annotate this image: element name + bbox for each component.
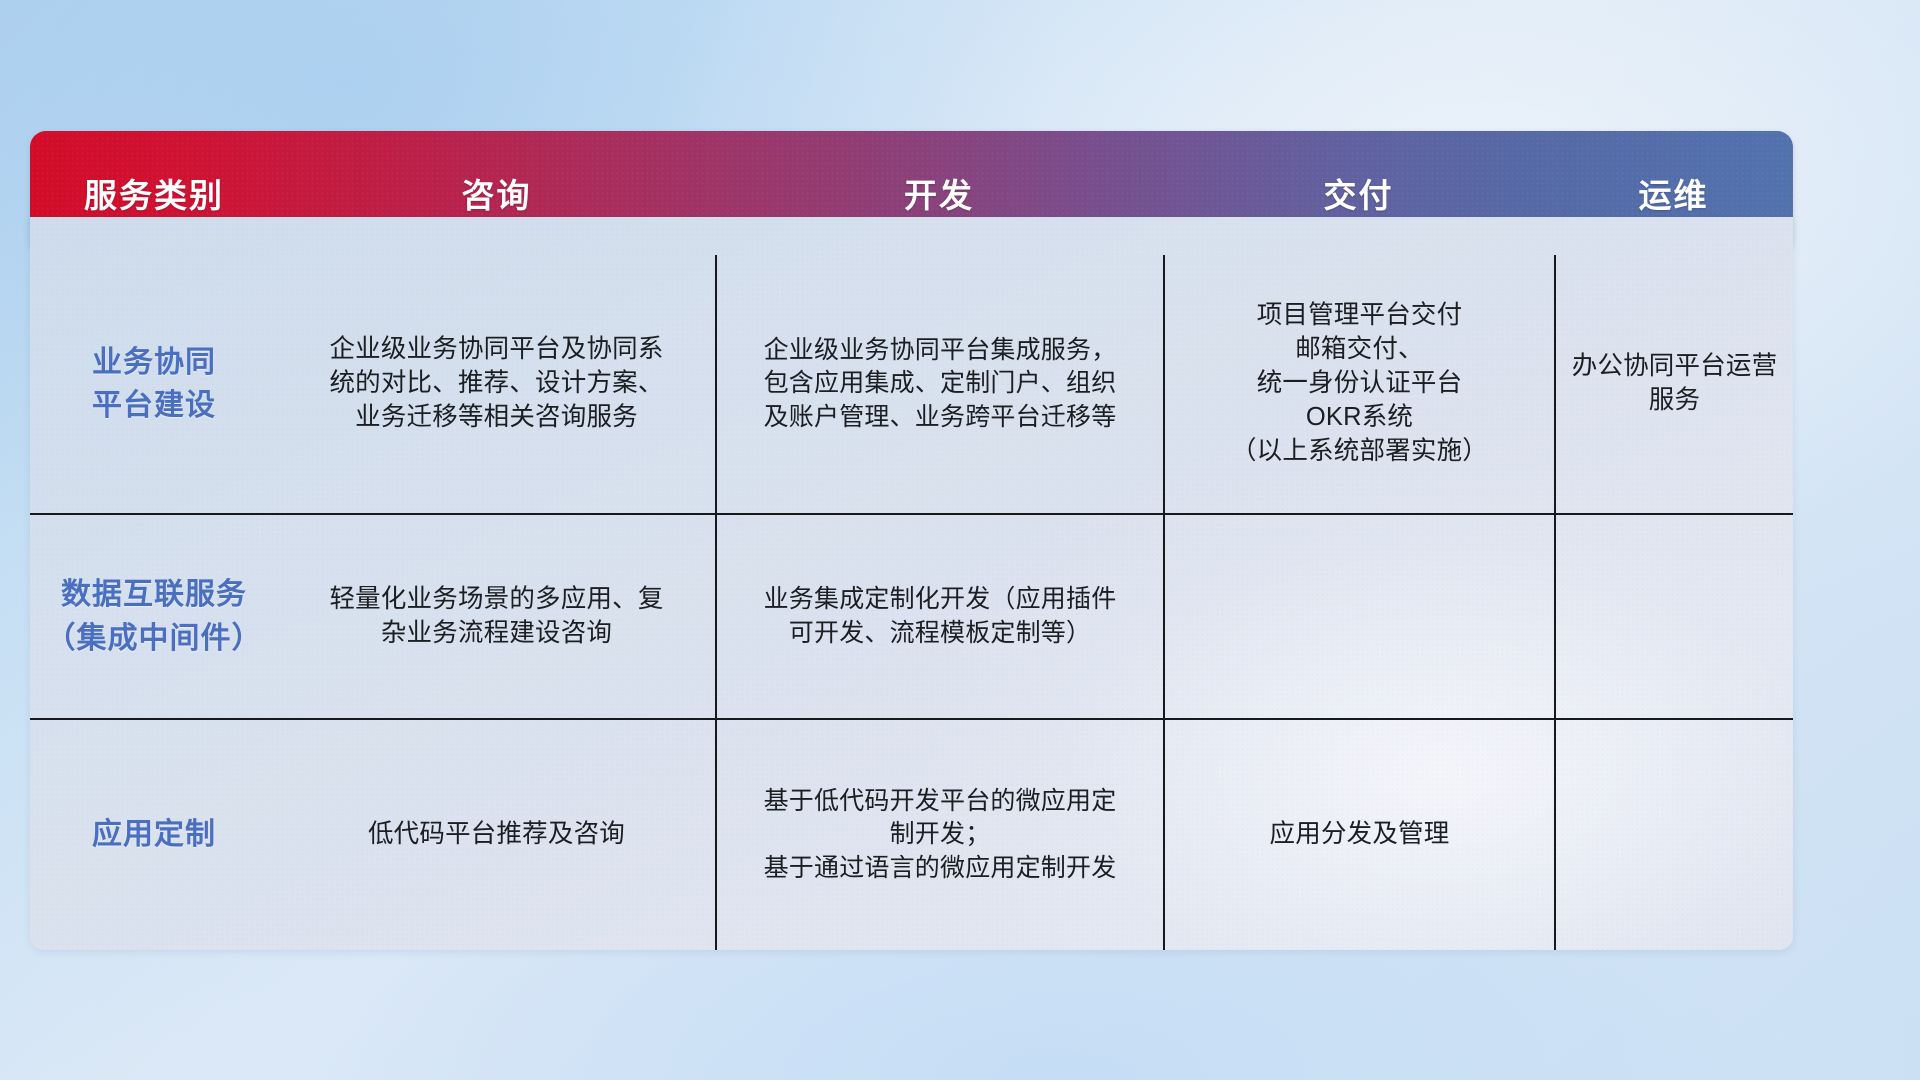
cell-delivery bbox=[1163, 515, 1554, 718]
column-header-development: 开发 bbox=[715, 169, 1163, 217]
service-matrix-table: 服务类别 咨询 开发 交付 运维 业务协同 平台建设 企业级业务协同平台及协同系… bbox=[30, 131, 1793, 950]
cell-development: 企业级业务协同平台集成服务， 包含应用集成、定制门户、组织 及账户管理、业务跨平… bbox=[715, 255, 1163, 513]
cell-development: 业务集成定制化开发（应用插件 可开发、流程模板定制等） bbox=[715, 515, 1163, 718]
cell-operations bbox=[1554, 720, 1793, 950]
cell-delivery: 项目管理平台交付 邮箱交付、 统一身份认证平台 OKR系统 （以上系统部署实施） bbox=[1163, 255, 1554, 513]
row-category-label: 数据互联服务 （集成中间件） bbox=[30, 515, 278, 718]
cell-consulting: 轻量化业务场景的多应用、复 杂业务流程建设咨询 bbox=[278, 515, 715, 718]
table-row: 业务协同 平台建设 企业级业务协同平台及协同系 统的对比、推荐、设计方案、 业务… bbox=[30, 255, 1793, 515]
row-category-label: 业务协同 平台建设 bbox=[30, 255, 278, 513]
cell-consulting: 低代码平台推荐及咨询 bbox=[278, 720, 715, 950]
cell-operations bbox=[1554, 515, 1793, 718]
column-header-delivery: 交付 bbox=[1163, 169, 1554, 217]
row-category-label: 应用定制 bbox=[30, 720, 278, 950]
table-row: 应用定制 低代码平台推荐及咨询 基于低代码开发平台的微应用定 制开发； 基于通过… bbox=[30, 720, 1793, 950]
slide-canvas: 服务类别 咨询 开发 交付 运维 业务协同 平台建设 企业级业务协同平台及协同系… bbox=[0, 0, 1920, 1080]
cell-delivery: 应用分发及管理 bbox=[1163, 720, 1554, 950]
column-header-operations: 运维 bbox=[1554, 169, 1793, 217]
table-grid: 业务协同 平台建设 企业级业务协同平台及协同系 统的对比、推荐、设计方案、 业务… bbox=[30, 255, 1793, 950]
cell-operations: 办公协同平台运营服务 bbox=[1554, 255, 1793, 513]
cell-consulting: 企业级业务协同平台及协同系 统的对比、推荐、设计方案、 业务迁移等相关咨询服务 bbox=[278, 255, 715, 513]
table-row: 数据互联服务 （集成中间件） 轻量化业务场景的多应用、复 杂业务流程建设咨询 业… bbox=[30, 515, 1793, 720]
column-header-consulting: 咨询 bbox=[278, 169, 715, 217]
cell-development: 基于低代码开发平台的微应用定 制开发； 基于通过语言的微应用定制开发 bbox=[715, 720, 1163, 950]
column-header-category: 服务类别 bbox=[30, 169, 278, 217]
